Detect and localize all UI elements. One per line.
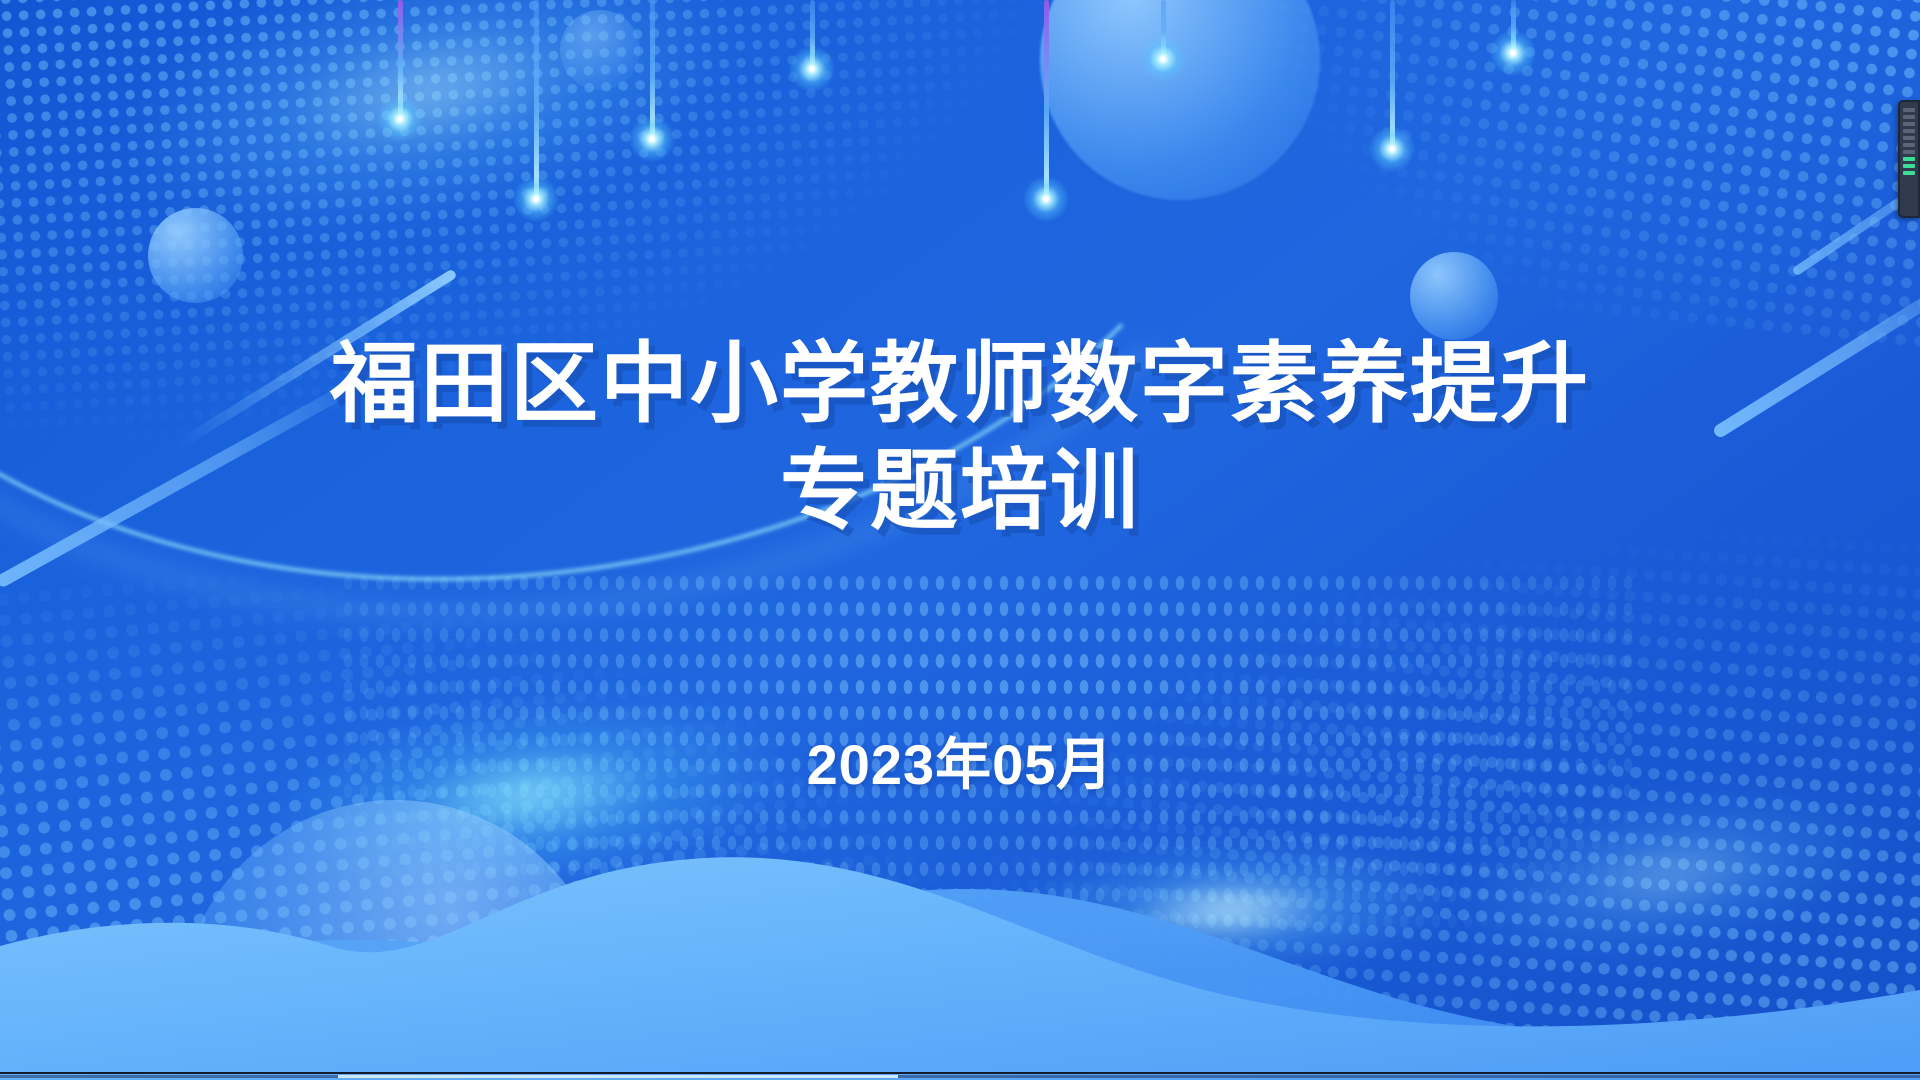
subtitle-date: 2023年05月 bbox=[0, 720, 1920, 801]
toolbar-bar-green bbox=[1903, 157, 1915, 161]
meteor-head-glow bbox=[1490, 30, 1536, 76]
meteor-streak-icon bbox=[377, 0, 423, 164]
meteor-tail bbox=[1390, 0, 1395, 148]
meteor-head-glow bbox=[1369, 126, 1415, 172]
light-flare-top-left bbox=[100, 0, 761, 282]
meteor-tail bbox=[534, 0, 539, 198]
sphere-top-left bbox=[560, 10, 640, 90]
meteor-tail bbox=[398, 0, 403, 118]
meteor-head-glow bbox=[789, 46, 835, 92]
horizontal-scrollbar[interactable] bbox=[0, 1070, 1920, 1080]
toolbar-bar-grey bbox=[1903, 143, 1915, 147]
floating-toolbar-widget[interactable] bbox=[1898, 100, 1920, 218]
sphere-bottom-center bbox=[560, 870, 980, 1080]
toolbar-bar-grey bbox=[1903, 129, 1915, 133]
meteor-tail bbox=[1161, 0, 1166, 58]
sphere-bottom-left bbox=[180, 800, 610, 1080]
meteor-tail bbox=[810, 0, 815, 68]
meteor-tail bbox=[1044, 0, 1049, 198]
toolbar-bar-grey bbox=[1903, 150, 1915, 154]
meteor-head-glow bbox=[1140, 36, 1186, 82]
toolbar-bar-grey bbox=[1903, 115, 1915, 119]
page-title-line-1: 福田区中小学教师数字素养提升 bbox=[0, 330, 1920, 437]
sphere-top-right bbox=[1040, 0, 1320, 200]
meteor-head-glow bbox=[1023, 176, 1069, 222]
meteor-streak-icon bbox=[1023, 0, 1069, 244]
meteor-tail bbox=[650, 0, 655, 138]
page-title-line-2: 专题培训 bbox=[0, 437, 1920, 544]
title-block: 福田区中小学教师数字素养提升 专题培训 bbox=[0, 330, 1920, 545]
scrollbar-track[interactable] bbox=[0, 1075, 1920, 1078]
meteor-streak-icon bbox=[1490, 0, 1536, 98]
meteor-streak-icon bbox=[1369, 0, 1415, 194]
meteor-streak-icon bbox=[789, 0, 835, 114]
meteor-streak-icon bbox=[513, 0, 559, 244]
dot-field-top-right bbox=[1002, 0, 1920, 362]
toolbar-bar-grey bbox=[1903, 108, 1915, 112]
toolbar-bar-grey bbox=[1903, 136, 1915, 140]
light-flare-bottom-center bbox=[997, 828, 1464, 992]
meteor-streak-icon bbox=[1140, 0, 1186, 104]
meteor-head-glow bbox=[377, 96, 423, 142]
presentation-slide: 福田区中小学教师数字素养提升 专题培训 2023年05月 bbox=[0, 0, 1920, 1080]
toolbar-bar-green bbox=[1903, 171, 1915, 175]
meteor-head-glow bbox=[513, 176, 559, 222]
meteor-head-glow bbox=[629, 116, 675, 162]
toolbar-bar-green bbox=[1903, 164, 1915, 168]
toolbar-bar-grey bbox=[1903, 122, 1915, 126]
sphere-right-middle bbox=[1410, 252, 1498, 340]
meteor-streak-icon bbox=[629, 0, 675, 184]
scrollbar-top-rule bbox=[0, 1072, 1920, 1074]
meteor-tail bbox=[1511, 0, 1516, 52]
sphere-left-middle bbox=[148, 208, 243, 303]
scrollbar-thumb[interactable] bbox=[338, 1075, 898, 1078]
